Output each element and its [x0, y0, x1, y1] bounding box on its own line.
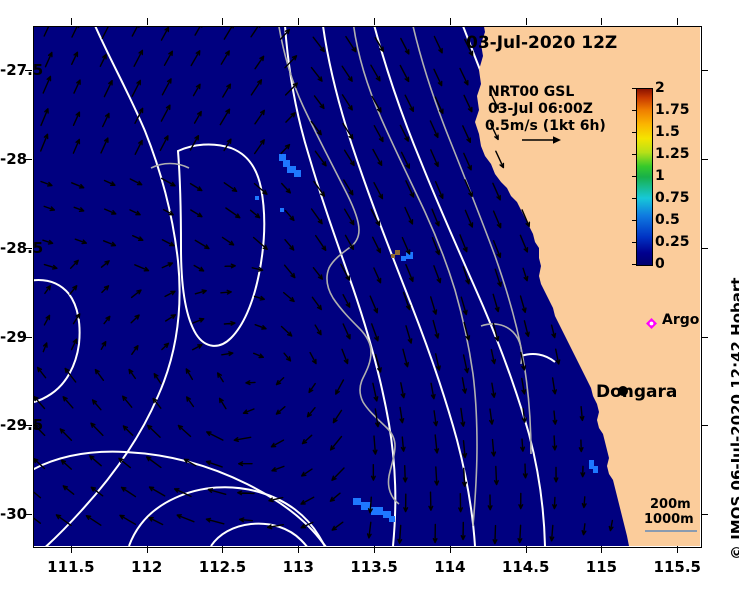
current-vector [406, 265, 413, 282]
x-tick [374, 546, 375, 553]
current-vector [154, 374, 161, 384]
current-vector [166, 315, 176, 321]
current-vector [609, 521, 613, 531]
current-vector [208, 489, 225, 495]
current-vector [164, 210, 174, 215]
current-vector [255, 325, 266, 329]
current-vector [316, 236, 326, 251]
x-tick-top [222, 18, 223, 25]
current-vector [194, 266, 203, 271]
current-vector [431, 383, 435, 398]
x-tick-top [298, 18, 299, 25]
current-vector [238, 491, 254, 495]
current-vector [579, 440, 583, 451]
current-vector [74, 112, 80, 125]
current-vector [221, 51, 229, 64]
current-vector [226, 208, 240, 218]
current-vector [553, 411, 557, 424]
current-vector [102, 286, 109, 293]
current-vector [554, 467, 558, 481]
current-vector [147, 457, 161, 467]
current-vector [75, 239, 86, 243]
current-vector [371, 65, 380, 81]
current-vector [44, 26, 51, 36]
current-vector [104, 241, 116, 246]
current-vector [56, 515, 71, 526]
colorbar-tick [632, 110, 636, 111]
current-vector [61, 460, 71, 469]
current-vector [434, 266, 441, 283]
current-vector [33, 515, 40, 524]
current-vector [221, 290, 231, 294]
current-vector [374, 126, 383, 142]
current-vector [556, 349, 560, 364]
current-vector [332, 522, 343, 530]
current-vector [465, 210, 472, 227]
current-vector [105, 181, 115, 186]
current-vector [186, 369, 192, 379]
current-vector [464, 95, 472, 111]
current-vector [41, 134, 48, 151]
current-vector [580, 407, 584, 421]
current-vector [313, 268, 322, 279]
current-vector [491, 350, 495, 364]
current-vector [45, 286, 50, 294]
current-vector [251, 210, 260, 217]
current-vector [310, 353, 316, 364]
current-vector [373, 383, 378, 401]
current-vector [177, 515, 194, 522]
current-vector [406, 326, 412, 343]
x-tick-top [526, 18, 527, 25]
colorbar-tick-label: 0.25 [655, 234, 690, 250]
current-vector [162, 263, 172, 268]
current-vector [148, 425, 160, 437]
current-vector [523, 268, 528, 280]
x-tick-top [450, 18, 451, 25]
y-tick-label: -30 [0, 505, 22, 523]
current-vector [286, 113, 295, 122]
current-vector [162, 240, 174, 246]
y-tick-right [701, 337, 708, 338]
y-tick-right [701, 248, 708, 249]
current-vector [343, 124, 353, 139]
current-vector [72, 183, 84, 188]
current-vector [308, 408, 316, 417]
reference-vector-arrow [521, 134, 561, 146]
current-vector [464, 355, 469, 373]
current-vector [344, 180, 353, 195]
colorbar-tick-label: 1 [655, 168, 665, 184]
current-vector [240, 518, 253, 522]
current-vector [223, 237, 234, 245]
current-vector [312, 297, 321, 309]
vector-annotation-line3: 0.5m/s (1kt 6h) [485, 118, 606, 135]
current-vector [374, 268, 381, 283]
current-vector [161, 105, 170, 121]
current-vector [277, 378, 284, 385]
colorbar-gradient [636, 88, 653, 266]
current-vector [429, 492, 433, 510]
current-vector [255, 296, 265, 300]
current-vector [162, 79, 171, 95]
y-tick-label: -29 [0, 328, 22, 346]
colorbar-tick-label: 1.5 [655, 124, 680, 140]
current-vector [400, 408, 404, 423]
current-vector [552, 325, 556, 337]
current-vector [301, 497, 314, 504]
current-vector [459, 494, 463, 512]
current-vector [38, 368, 46, 378]
current-vector [60, 429, 71, 440]
current-vector [193, 319, 204, 324]
current-vector [132, 81, 140, 97]
current-vector [342, 95, 352, 110]
vector-annotation-line1: NRT00 GSL [488, 84, 574, 101]
copyright-text: © IMOS 06-Jul-2020 12:42 Hobart [728, 278, 739, 560]
colorbar-tick [632, 198, 636, 199]
current-vector [193, 345, 202, 350]
current-vector [401, 383, 405, 398]
current-vector [206, 518, 223, 523]
current-vector [285, 211, 294, 221]
current-vector [312, 209, 323, 224]
current-vector [433, 238, 440, 255]
x-tick-label: 113.5 [350, 558, 397, 576]
colorbar-tick [632, 154, 636, 155]
sst-age-patch-warm [391, 250, 400, 258]
x-tick-label: 112 [131, 558, 162, 576]
current-vector [254, 238, 268, 250]
current-vector [581, 466, 585, 476]
current-vector [195, 240, 209, 248]
current-vector [41, 182, 52, 186]
x-tick [222, 546, 223, 553]
x-tick [147, 546, 148, 553]
x-tick [298, 546, 299, 553]
current-vector [162, 27, 169, 40]
current-vector [101, 138, 108, 153]
land-mass [33, 26, 700, 546]
current-vector [463, 441, 467, 458]
bathymetry-contour-gray [151, 26, 531, 526]
current-vector [225, 264, 235, 268]
current-vector [255, 56, 264, 68]
current-vector [521, 296, 526, 312]
current-vector [284, 353, 290, 361]
current-vector [70, 286, 77, 294]
scale-bar-lower-label: 1000m [644, 512, 694, 527]
current-vector [521, 439, 525, 451]
current-vector [406, 181, 414, 197]
current-vector [239, 462, 252, 466]
current-vector [251, 80, 261, 95]
current-vector [46, 53, 52, 67]
colorbar-tick-label: 1.25 [655, 146, 690, 162]
current-vector [129, 370, 135, 379]
colorbar-tick [632, 242, 636, 243]
scale-bar-line [645, 530, 697, 532]
x-tick [450, 546, 451, 553]
current-vector [494, 211, 501, 228]
current-vector [373, 436, 377, 454]
current-vector [218, 373, 224, 382]
current-vector [302, 469, 312, 476]
current-vector [461, 522, 465, 539]
argo-legend-label: Argo [662, 312, 699, 328]
x-tick-label: 114.5 [502, 558, 549, 576]
y-tick-right [701, 425, 708, 426]
x-tick-label: 112.5 [199, 558, 246, 576]
current-vector [464, 153, 471, 169]
current-vector [130, 179, 141, 185]
current-vector [343, 295, 350, 308]
current-vector [430, 121, 438, 137]
current-vector [405, 208, 413, 224]
colorbar-tick-label: 2 [655, 80, 665, 96]
current-vector [135, 265, 149, 271]
current-vector [436, 182, 443, 199]
current-vector [336, 380, 344, 394]
x-tick-label: 114 [434, 558, 465, 576]
current-vector [315, 96, 324, 109]
colorbar-tick-label: 0.5 [655, 212, 680, 228]
current-vector [495, 467, 499, 485]
current-vector [43, 240, 53, 244]
current-vector [373, 237, 381, 252]
current-vector [130, 210, 140, 215]
current-vector [132, 26, 139, 36]
x-tick-top [374, 18, 375, 25]
current-vector [120, 515, 135, 524]
current-vector [255, 110, 264, 123]
x-tick-label: 115.5 [654, 558, 701, 576]
current-vector [102, 261, 110, 267]
current-vector [252, 268, 262, 272]
current-vector [332, 468, 344, 480]
current-vector [223, 84, 231, 97]
vector-annotation-line2: 03-Jul 06:00Z [488, 101, 593, 118]
colorbar-tick [632, 220, 636, 221]
x-tick-top [71, 18, 72, 25]
current-vector [271, 440, 283, 447]
current-vector [72, 339, 77, 349]
current-vector [282, 327, 292, 337]
current-vector [315, 325, 321, 335]
current-vector [346, 235, 354, 249]
current-vector [492, 440, 496, 456]
colorbar-tick [632, 176, 636, 177]
current-vector [165, 51, 173, 65]
current-vector [314, 182, 325, 197]
current-vector [582, 524, 586, 535]
current-vector [493, 294, 499, 311]
current-vector [281, 30, 290, 40]
current-vector [86, 516, 100, 526]
x-tick [526, 546, 527, 553]
current-vector [520, 235, 527, 252]
current-vector [518, 525, 522, 542]
current-vector [461, 408, 465, 426]
current-vector [224, 183, 236, 192]
current-vector [74, 207, 84, 211]
dongara-label: Dongara [596, 382, 677, 402]
current-vector [72, 26, 79, 37]
current-vector [165, 291, 175, 296]
current-vector [132, 290, 141, 297]
current-vector [254, 353, 264, 357]
x-tick-label: 113 [283, 558, 314, 576]
current-vector [432, 209, 439, 226]
current-vector [553, 436, 557, 450]
current-vector [105, 209, 116, 214]
current-vector [312, 68, 323, 82]
current-vector [493, 183, 500, 200]
current-vector [71, 260, 79, 268]
current-vector [44, 206, 54, 210]
current-vector [436, 354, 441, 370]
current-vector [276, 407, 285, 414]
current-vector [195, 112, 202, 124]
current-vector [187, 397, 194, 407]
current-vector [519, 493, 523, 508]
current-vector [284, 293, 294, 302]
colorbar-tick [632, 88, 636, 89]
current-vector [315, 151, 326, 166]
y-tick-right [701, 514, 708, 515]
x-tick-label: 111.5 [47, 558, 94, 576]
current-vector [331, 437, 342, 450]
current-vector [309, 384, 315, 393]
x-tick-top [677, 18, 678, 25]
current-vector [281, 145, 289, 154]
current-vector [122, 487, 136, 496]
current-vector [195, 290, 206, 294]
current-vector [133, 236, 143, 241]
y-tick-right [701, 159, 708, 160]
current-vector [123, 426, 132, 435]
current-vector [191, 51, 200, 66]
current-vector [100, 55, 106, 67]
plot-title: 03-Jul-2020 12Z [466, 33, 617, 53]
current-vector [220, 398, 226, 408]
current-vector [90, 456, 102, 466]
current-vector [368, 522, 372, 538]
current-vector [150, 487, 165, 496]
current-vector [33, 488, 40, 497]
current-vector [101, 342, 105, 350]
current-vector [342, 349, 348, 363]
current-vector [134, 50, 142, 66]
current-vector [524, 321, 529, 337]
x-tick-top [147, 18, 148, 25]
current-vector [149, 518, 163, 525]
current-vector [346, 37, 356, 52]
current-vector [431, 150, 438, 167]
current-vector [403, 349, 408, 366]
colorbar-tick-label: 0.75 [655, 190, 690, 206]
current-vector [398, 525, 402, 543]
current-vector [333, 410, 341, 422]
current-vector [375, 38, 383, 52]
current-vector [191, 210, 202, 217]
current-vector [93, 400, 101, 410]
current-vector [224, 139, 231, 150]
current-vector [463, 126, 471, 142]
y-tick-label: -27.5 [0, 61, 22, 79]
current-vector [433, 525, 437, 543]
current-vector [553, 378, 557, 394]
current-vector [522, 379, 526, 394]
current-vector [342, 66, 352, 81]
current-vector [41, 109, 48, 126]
x-tick-top [601, 18, 602, 25]
x-tick-label: 115 [586, 558, 617, 576]
current-vector [313, 37, 324, 51]
current-vector [191, 184, 202, 191]
current-vector [404, 494, 408, 511]
current-vector [373, 150, 382, 166]
current-vector [104, 81, 112, 97]
current-vector [72, 52, 78, 64]
colorbar-tick-label: 0 [655, 256, 665, 272]
current-vector [345, 150, 355, 165]
colorbar-tick-label: 1.75 [655, 102, 690, 118]
current-vector [434, 411, 438, 426]
current-vector [345, 209, 354, 225]
current-vector [95, 370, 103, 381]
map-plot-area[interactable]: 03-Jul-2020 12Z NRT00 GSL 03-Jul 06:00Z … [33, 26, 700, 546]
current-vector [131, 315, 139, 323]
current-vector [195, 26, 202, 35]
current-vector [162, 343, 169, 349]
current-vector [132, 346, 138, 355]
current-vector [255, 140, 265, 154]
current-vector [91, 423, 103, 435]
current-vector [435, 435, 439, 453]
current-vector [190, 136, 198, 150]
current-vector [431, 297, 437, 314]
sst-age-map-figure: 03-Jul-2020 12Z NRT00 GSL 03-Jul 06:00Z … [0, 0, 739, 592]
y-tick-right [701, 70, 708, 71]
x-tick [677, 546, 678, 553]
current-vector [103, 114, 109, 127]
current-vector [461, 297, 467, 314]
current-vector [330, 493, 340, 501]
x-tick [71, 546, 72, 553]
current-vector [550, 526, 554, 541]
colorbar-tick [632, 264, 636, 265]
current-vector [343, 324, 350, 339]
scale-bar-upper-label: 200m [650, 497, 691, 512]
current-vector [582, 497, 586, 508]
current-vector [460, 69, 468, 85]
current-vector [178, 426, 190, 437]
current-vector [44, 315, 49, 325]
current-vector [222, 352, 233, 356]
current-vector [370, 296, 377, 313]
current-vector [403, 466, 407, 482]
current-vector [251, 26, 260, 37]
current-vector [73, 140, 79, 154]
current-vector [234, 437, 250, 441]
current-vector [492, 383, 496, 397]
current-vector [400, 66, 408, 82]
current-vector [282, 184, 291, 193]
current-vector [303, 435, 312, 443]
current-vector [285, 240, 294, 250]
current-vector [63, 397, 73, 408]
